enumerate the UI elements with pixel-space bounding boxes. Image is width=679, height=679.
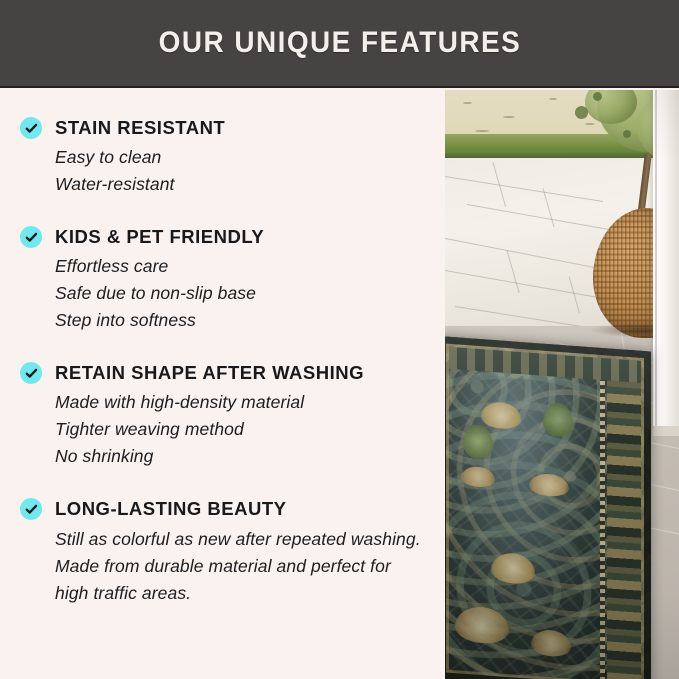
- feature-item: RETAIN SHAPE AFTER WASHING Made with hig…: [20, 361, 437, 470]
- page-title: OUR UNIQUE FEATURES: [158, 26, 521, 60]
- leaf-dot: [575, 106, 588, 119]
- feature-item: STAIN RESISTANT Easy to clean Water-resi…: [20, 116, 437, 198]
- feature-line: Made with high-density material: [55, 389, 437, 416]
- features-list: STAIN RESISTANT Easy to clean Water-resi…: [0, 90, 445, 679]
- check-circle-icon: [20, 498, 42, 520]
- feature-line: Step into softness: [55, 307, 437, 334]
- feature-title: RETAIN SHAPE AFTER WASHING: [55, 361, 437, 384]
- feature-line: Water-resistant: [55, 171, 437, 198]
- check-circle-icon: [20, 226, 42, 248]
- feature-title: KIDS & PET FRIENDLY: [55, 225, 437, 248]
- feature-title: STAIN RESISTANT: [55, 116, 437, 139]
- product-photo: [445, 90, 679, 679]
- feature-item: KIDS & PET FRIENDLY Effortless care Safe…: [20, 225, 437, 334]
- feature-line-list: Effortless care Safe due to non-slip bas…: [55, 253, 437, 334]
- leaf-dot: [593, 92, 602, 101]
- persian-floral-rug: [445, 336, 651, 679]
- header-band: OUR UNIQUE FEATURES: [0, 0, 679, 88]
- feature-line: Tighter weaving method: [55, 416, 437, 443]
- feature-line-list: Easy to clean Water-resistant: [55, 144, 437, 198]
- feature-line: Easy to clean: [55, 144, 437, 171]
- photo-scene: [445, 90, 679, 679]
- check-circle-icon: [20, 362, 42, 384]
- door-jamb-edge: [655, 90, 657, 430]
- feature-line: No shrinking: [55, 443, 437, 470]
- feature-item: LONG-LASTING BEAUTY Still as colorful as…: [20, 497, 437, 606]
- feature-line-list: Made with high-density material Tighter …: [55, 389, 437, 470]
- feature-line: Safe due to non-slip base: [55, 280, 437, 307]
- feature-highlight-page: OUR UNIQUE FEATURES STAIN RESISTANT Easy…: [0, 0, 679, 679]
- feature-line: Effortless care: [55, 253, 437, 280]
- feature-paragraph: Still as colorful as new after repeated …: [55, 526, 427, 607]
- check-circle-icon: [20, 117, 42, 139]
- leaf-dot: [623, 130, 631, 138]
- feature-title: LONG-LASTING BEAUTY: [55, 497, 437, 520]
- rug-sheen: [445, 336, 651, 679]
- door-base: [653, 426, 679, 436]
